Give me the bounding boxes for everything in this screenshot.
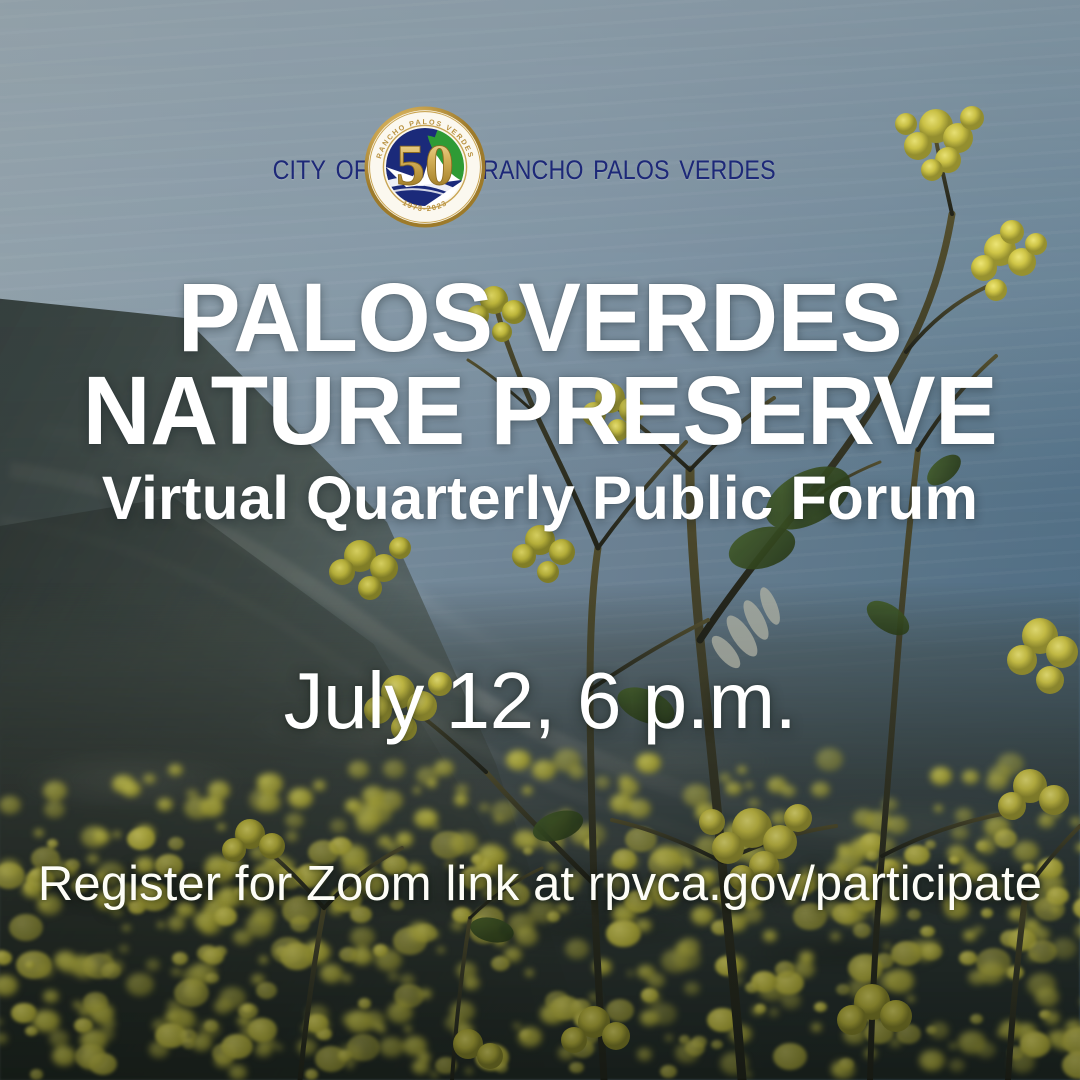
logo-city-name-text: Rancho Palos Verdes [482,145,776,189]
city-50th-anniversary-seal: 50 RANCHO PALOS VERDES 1973-2023 [362,104,488,230]
registration-instruction: Register for Zoom link at rpvca.gov/part… [0,856,1080,912]
page-title: PALOS VERDES NATURE PRESERVE [0,272,1080,457]
subtitle: Virtual Quarterly Public Forum [8,463,1072,533]
logo-city-of-text: City of [272,145,368,189]
poster-content: City of [0,0,1080,1080]
seal-numeral: 50 [396,133,454,198]
headline-line-2: NATURE PRESERVE [16,365,1064,458]
headline-line-1: PALOS VERDES [16,272,1064,365]
poster-canvas: City of [0,0,1080,1080]
event-date-time: July 12, 6 p.m. [0,655,1080,747]
city-logo-lockup: City of [0,104,1080,230]
